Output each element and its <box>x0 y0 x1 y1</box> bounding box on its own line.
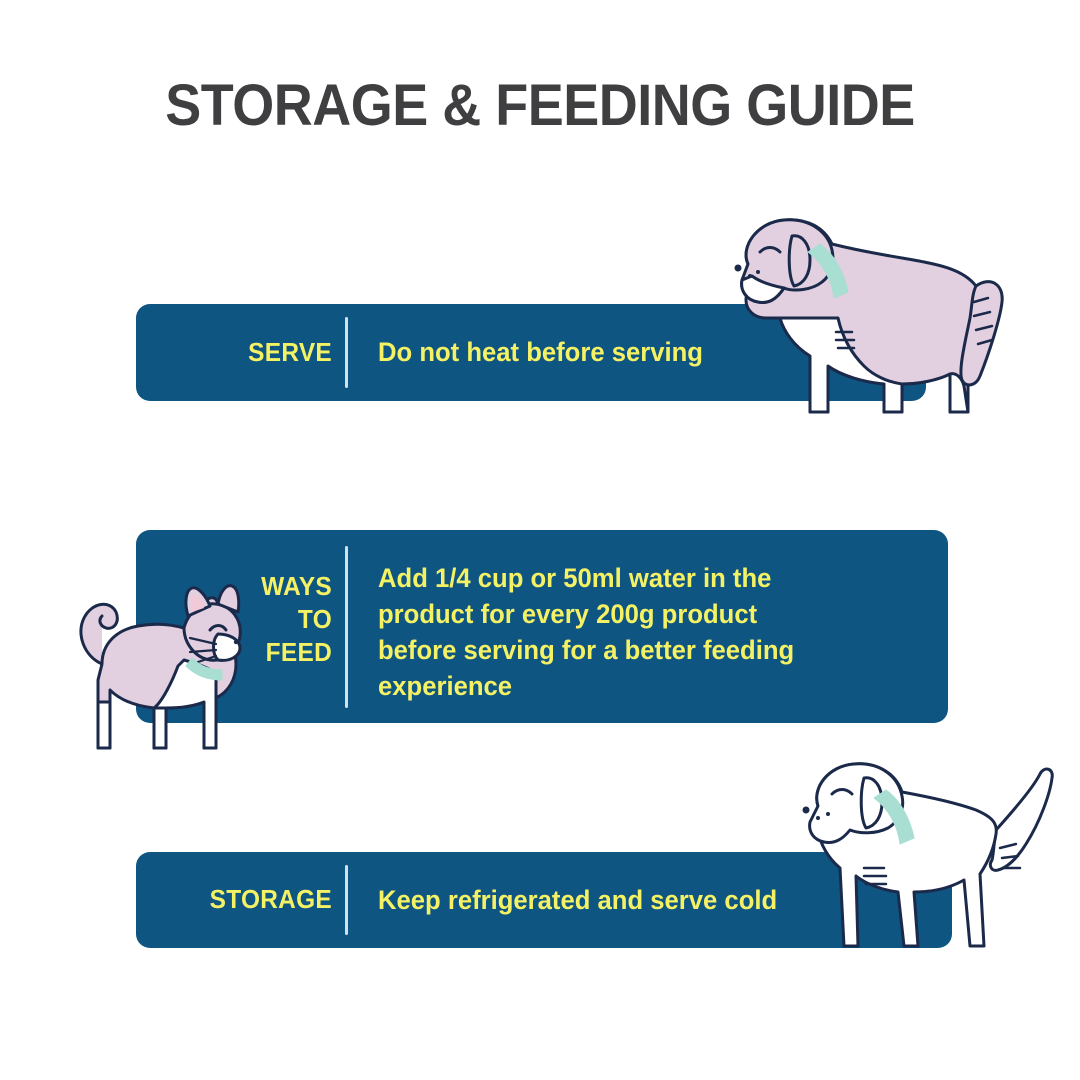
panel-storage-body: Keep refrigerated and serve cold <box>378 883 777 917</box>
panel-serve-divider <box>345 317 348 388</box>
panel-serve-body: Do not heat before serving <box>378 335 703 369</box>
panel-ways-to-feed-body: Add 1/4 cup or 50ml water in the product… <box>378 560 910 704</box>
guide-infographic: STORAGE & FEEDING GUIDE SERVE Do not hea… <box>0 0 1080 1080</box>
cat-standing-pink-illustration <box>58 572 293 767</box>
panel-body-line: experience <box>378 668 910 704</box>
panel-ways-to-feed-divider <box>345 546 348 708</box>
panel-storage-label: STORAGE <box>148 884 332 915</box>
panel-serve-label: SERVE <box>148 337 332 368</box>
panel-storage-divider <box>345 865 348 935</box>
panel-body-line: Add 1/4 cup or 50ml water in the <box>378 560 910 596</box>
panel-body-line: product for every 200g product <box>378 596 910 632</box>
dog-standing-white-illustration <box>778 752 1078 967</box>
dog-standing-pink-illustration <box>688 206 1008 436</box>
page-title: STORAGE & FEEDING GUIDE <box>38 72 1042 139</box>
panel-body-line: before serving for a better feeding <box>378 632 910 668</box>
